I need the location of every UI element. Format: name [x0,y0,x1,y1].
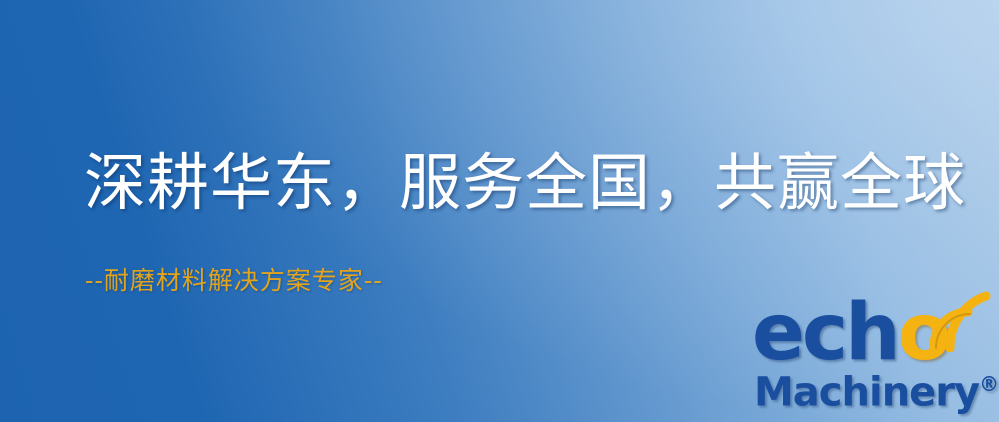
logo-tagline-text: Machinery [754,369,979,415]
logo-tagline: Machinery® [754,364,999,412]
promo-banner: 深耕华东，服务全国，共赢全球 --耐磨材料解决方案专家-- echo Machi… [0,0,999,422]
echo-machinery-logo[interactable]: echo Machinery® [752,292,996,420]
logo-echo-text: echo [752,294,948,372]
echo-signal-arcs-icon [924,290,996,352]
banner-subtitle: --耐磨材料解决方案专家-- [85,268,383,293]
registered-trademark-icon: ® [979,372,999,396]
banner-headline: 深耕华东，服务全国，共赢全球 [84,152,966,214]
